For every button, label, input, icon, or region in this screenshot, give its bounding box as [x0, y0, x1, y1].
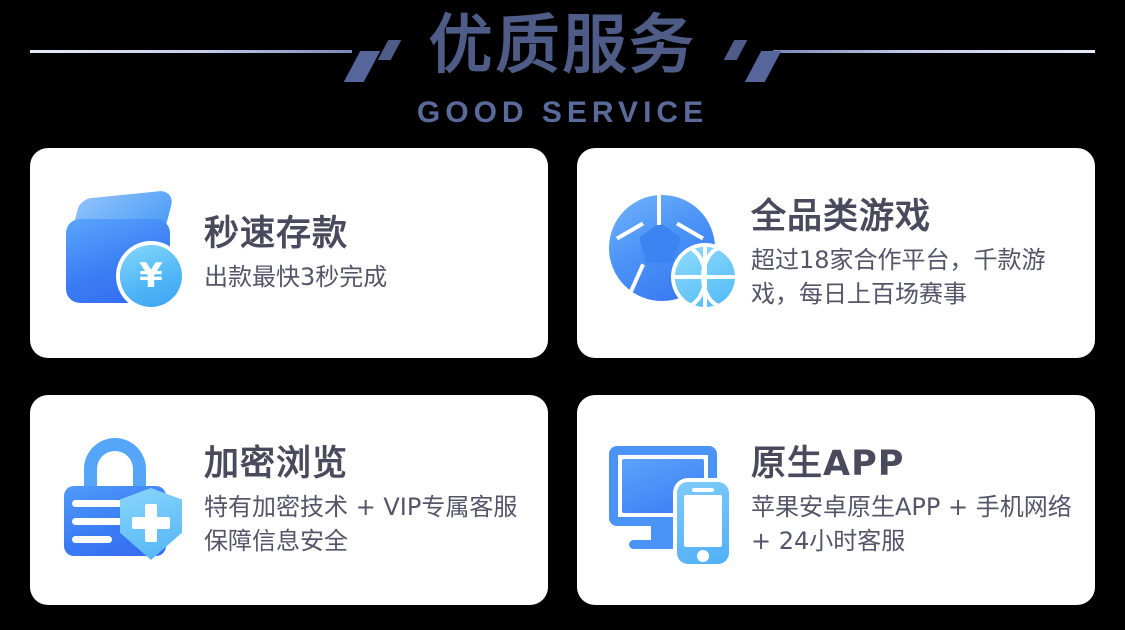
feature-card-native-app[interactable]: 原生APP 苹果安卓原生APP + 手机网络 + 24小时客服 — [577, 395, 1095, 605]
page-subtitle: GOOD SERVICE — [0, 95, 1125, 131]
feature-card-title: 秒速存款 — [204, 212, 528, 256]
feature-card-games[interactable]: 全品类游戏 超过18家合作平台，千款游戏，每日上百场赛事 — [577, 148, 1095, 358]
feature-card-title: 原生APP — [751, 442, 1075, 486]
feature-card-desc: 出款最快3秒完成 — [204, 260, 528, 294]
feature-card-title: 加密浏览 — [204, 442, 528, 486]
feature-card-desc: 超过18家合作平台，千款游戏，每日上百场赛事 — [751, 243, 1075, 311]
feature-card-text: 加密浏览 特有加密技术 + VIP专属客服保障信息安全 — [196, 442, 528, 558]
feature-card-text: 秒速存款 出款最快3秒完成 — [196, 212, 528, 294]
feature-card-text: 全品类游戏 超过18家合作平台，千款游戏，每日上百场赛事 — [743, 195, 1075, 311]
basketball-icon — [675, 247, 735, 307]
soccer-basketball-icon — [603, 183, 743, 323]
wallet-yen-icon: ¥ — [56, 183, 196, 323]
monitor-phone-icon — [603, 430, 743, 570]
feature-card-title: 全品类游戏 — [751, 195, 1075, 239]
page-title: 优质服务 — [0, 10, 1125, 82]
feature-card-desc: 特有加密技术 + VIP专属客服保障信息安全 — [204, 490, 528, 558]
lock-shield-icon — [56, 430, 196, 570]
banner-header: 优质服务 GOOD SERVICE — [0, 0, 1125, 145]
promo-banner: 优质服务 GOOD SERVICE ¥ 秒速存款 出款最快3秒完成 — [0, 0, 1125, 630]
feature-card-text: 原生APP 苹果安卓原生APP + 手机网络 + 24小时客服 — [743, 442, 1075, 558]
feature-card-grid: ¥ 秒速存款 出款最快3秒完成 — [30, 148, 1095, 608]
feature-card-desc: 苹果安卓原生APP + 手机网络 + 24小时客服 — [751, 490, 1075, 558]
feature-card-encryption[interactable]: 加密浏览 特有加密技术 + VIP专属客服保障信息安全 — [30, 395, 548, 605]
feature-card-deposit[interactable]: ¥ 秒速存款 出款最快3秒完成 — [30, 148, 548, 358]
yen-symbol: ¥ — [120, 245, 182, 307]
